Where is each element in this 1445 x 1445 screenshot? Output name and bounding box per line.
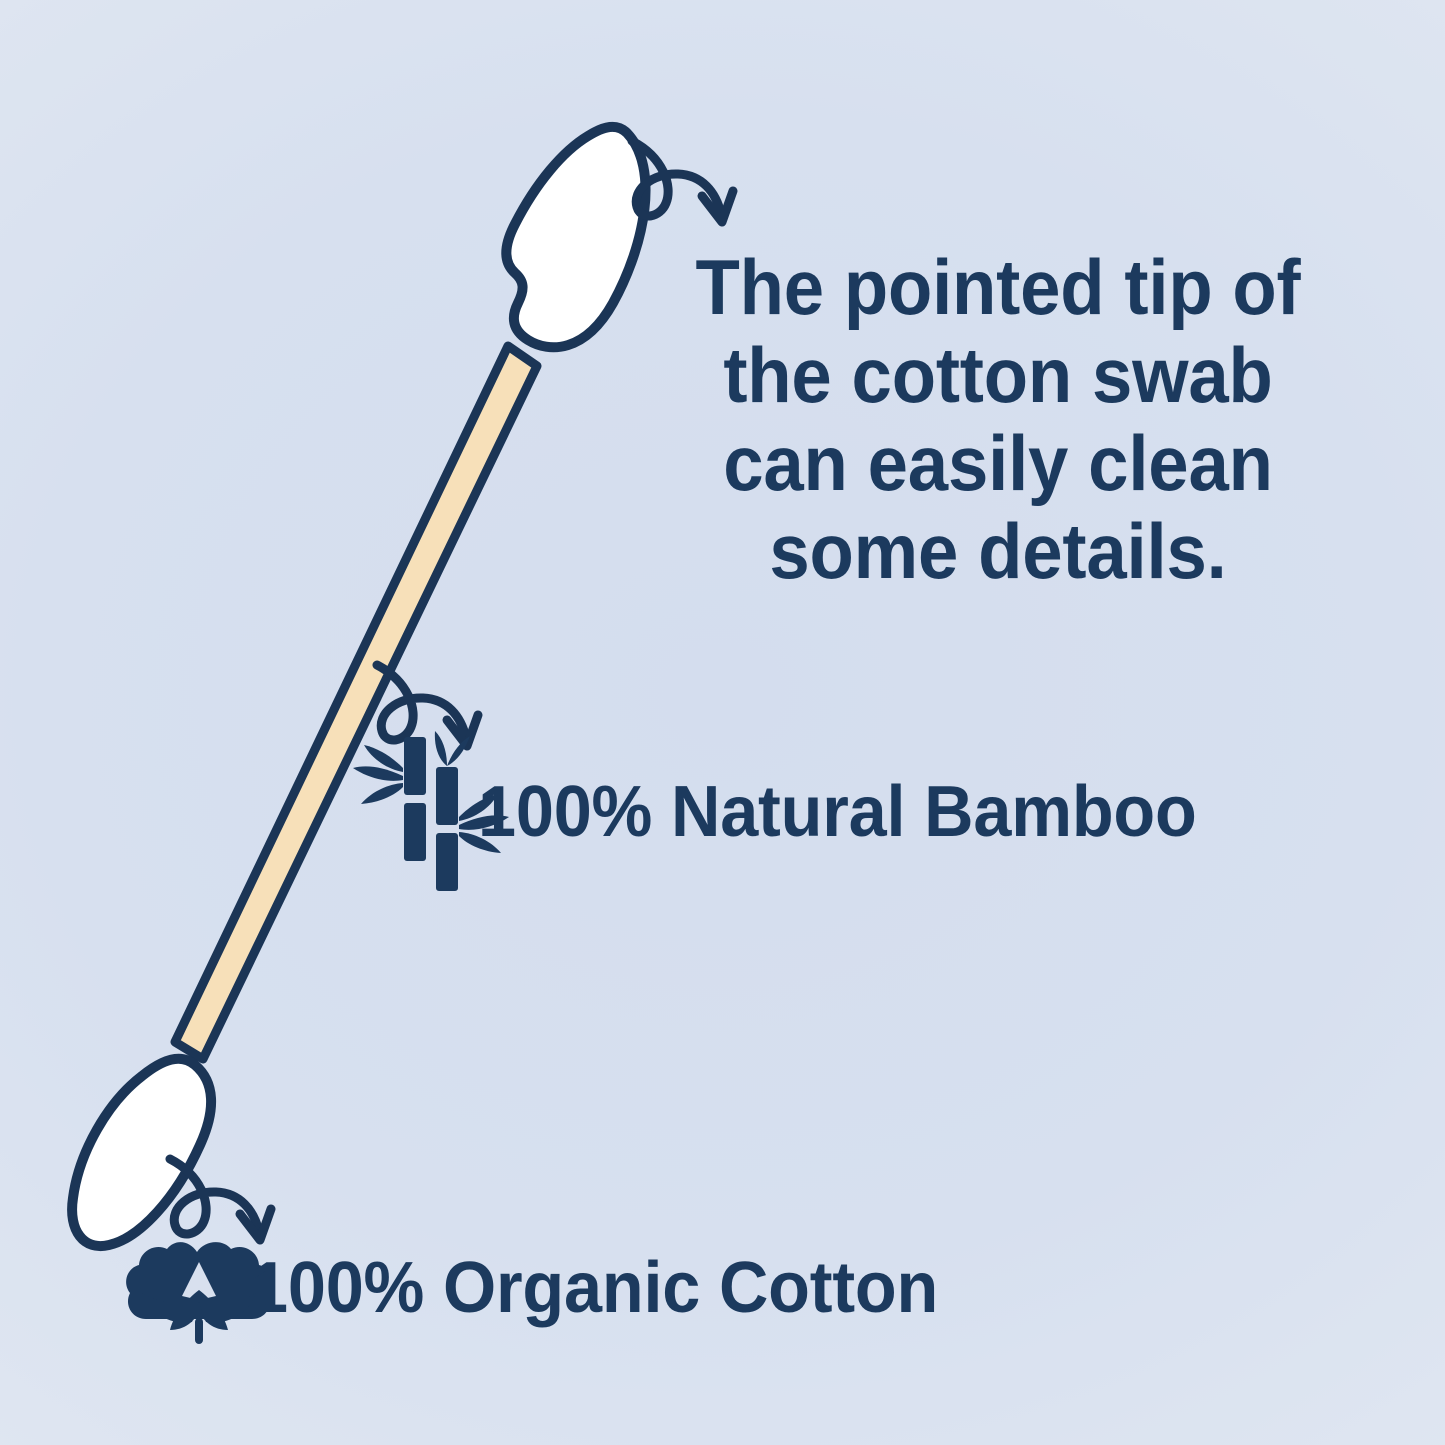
pointed-cotton-tip	[506, 127, 645, 347]
infographic-canvas: The pointed tip of the cotton swab can e…	[0, 0, 1445, 1445]
arrow-to-bamboo-icon	[377, 665, 478, 746]
arrow-to-cotton-icon	[170, 1159, 271, 1240]
feature-label-bamboo: 100% Natural Bamboo	[478, 772, 1197, 853]
bamboo-stick-shaft	[175, 346, 537, 1059]
swab-illustration	[0, 0, 1445, 1445]
rounded-cotton-tip	[72, 1059, 211, 1246]
feature-label-cotton: 100% Organic Cotton	[250, 1248, 938, 1329]
headline-text: The pointed tip of the cotton swab can e…	[654, 243, 1342, 596]
